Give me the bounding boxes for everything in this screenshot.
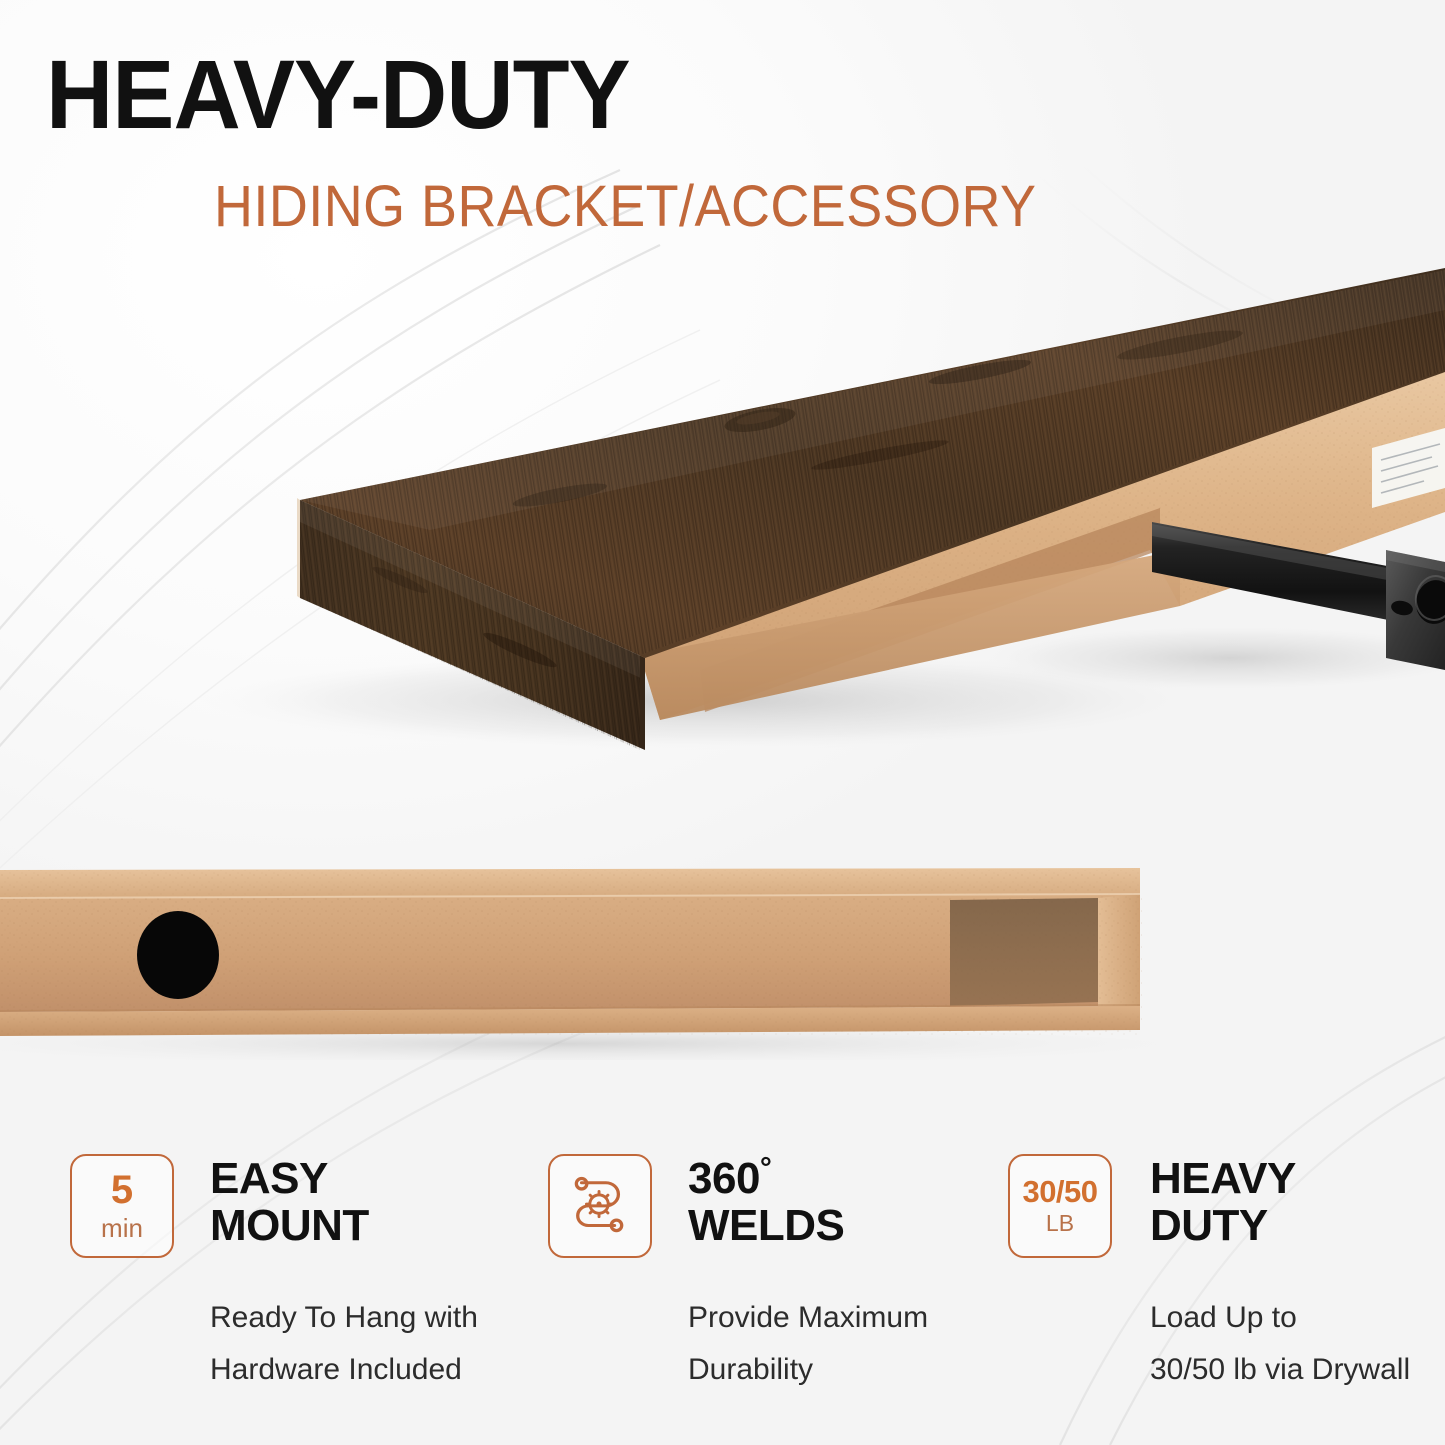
feature-title-line1: HEAVY bbox=[1150, 1156, 1296, 1203]
feature-desc-line1: Load Up to bbox=[1150, 1292, 1410, 1344]
feature-title: HEAVY DUTY bbox=[1150, 1156, 1296, 1249]
feature-description: Provide Maximum Durability bbox=[688, 1292, 928, 1395]
weld-path-gear-icon bbox=[569, 1175, 631, 1237]
badge-unit: min bbox=[101, 1214, 143, 1243]
feature-title-line1: 360° bbox=[688, 1156, 844, 1203]
product-photo-channel-cross-section bbox=[0, 860, 1445, 1060]
badge-value: 30/50 bbox=[1022, 1176, 1097, 1207]
page-headline: HEAVY-DUTY bbox=[46, 46, 630, 143]
channel-recessed-cavity bbox=[950, 898, 1098, 1006]
gear-node bbox=[586, 1191, 611, 1216]
feature-title-line2: DUTY bbox=[1150, 1203, 1296, 1250]
badge-value: 5 bbox=[111, 1170, 133, 1210]
feature-title-line1: EASY bbox=[210, 1156, 369, 1203]
infographic-canvas: HEAVY-DUTY HIDING BRACKET/ACCESSORY bbox=[0, 0, 1445, 1445]
badge-30-50-lb: 30/50 LB bbox=[1008, 1154, 1112, 1258]
feature-description: Ready To Hang with Hardware Included bbox=[210, 1292, 478, 1395]
feature-desc-line1: Ready To Hang with bbox=[210, 1292, 478, 1344]
degree-symbol: ° bbox=[760, 1151, 772, 1184]
feature-desc-line2: 30/50 lb via Drywall bbox=[1150, 1344, 1410, 1396]
feature-row: 5 min EASY MOUNT Ready To Hang with Hard… bbox=[0, 1140, 1445, 1430]
feature-title: EASY MOUNT bbox=[210, 1156, 369, 1249]
shelf-left-end-cap bbox=[297, 498, 300, 598]
feature-title: 360° WELDS bbox=[688, 1156, 844, 1249]
feature-desc-line2: Durability bbox=[688, 1344, 928, 1396]
feature-title-line2: WELDS bbox=[688, 1203, 844, 1250]
feature-title-line2: MOUNT bbox=[210, 1203, 369, 1250]
product-photo-angled-shelf bbox=[0, 250, 1445, 790]
feature-desc-line2: Hardware Included bbox=[210, 1344, 478, 1396]
badge-weld-icon bbox=[548, 1154, 652, 1258]
page-subheadline: HIDING BRACKET/ACCESSORY bbox=[214, 178, 1036, 236]
badge-unit: LB bbox=[1046, 1211, 1074, 1236]
feature-description: Load Up to 30/50 lb via Drywall bbox=[1150, 1292, 1410, 1395]
badge-5-min: 5 min bbox=[70, 1154, 174, 1258]
channel-mounting-hole bbox=[137, 911, 219, 999]
feature-desc-line1: Provide Maximum bbox=[688, 1292, 928, 1344]
